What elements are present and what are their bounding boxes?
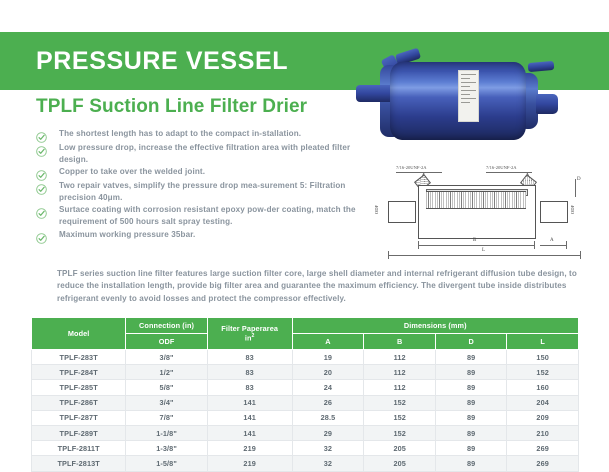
cell-b: 112 xyxy=(364,350,436,365)
list-item: Low pressure drop, increase the effectiv… xyxy=(36,142,356,165)
cell-d: 89 xyxy=(436,456,507,471)
label-line xyxy=(461,74,476,75)
cell-l: 152 xyxy=(507,365,579,380)
cell-odf: 1-1/8" xyxy=(126,425,208,440)
column-header-a: A xyxy=(292,334,364,350)
banner-title: PRESSURE VESSEL xyxy=(0,47,288,76)
label-line xyxy=(461,94,470,95)
dim-line-a xyxy=(540,245,566,246)
column-header-b: B xyxy=(364,334,436,350)
check-circle-icon xyxy=(36,206,47,217)
column-header-model: Model xyxy=(32,318,126,350)
column-header-l: L xyxy=(507,334,579,350)
check-circle-icon xyxy=(36,130,47,141)
cell-model: TPLF-284T xyxy=(32,365,126,380)
list-item: Maximum working pressure 35bar. xyxy=(36,229,356,242)
cell-paper: 83 xyxy=(207,365,292,380)
inlet-connection xyxy=(356,85,392,102)
cell-paper: 141 xyxy=(207,395,292,410)
cell-model: TPLF-289T xyxy=(32,425,126,440)
product-description: TPLF series suction line filter features… xyxy=(57,268,577,305)
label-line xyxy=(461,86,470,87)
dim-tick xyxy=(418,241,419,249)
cell-model: TPLF-283T xyxy=(32,350,126,365)
check-circle-icon xyxy=(36,182,47,193)
label-line xyxy=(461,98,476,99)
cell-odf: 1-3/8" xyxy=(126,441,208,456)
dim-label-l: L xyxy=(482,248,485,253)
cell-paper: 141 xyxy=(207,410,292,425)
dim-tick xyxy=(534,241,535,249)
feature-text: Copper to take over the welded joint. xyxy=(59,166,205,178)
table-row: TPLF-283T 3/8" 83 19 112 89 150 xyxy=(32,350,579,365)
cell-b: 205 xyxy=(364,441,436,456)
cell-a: 19 xyxy=(292,350,364,365)
cell-odf: 3/8" xyxy=(126,350,208,365)
column-header-odf: ODF xyxy=(126,334,208,350)
product-label xyxy=(458,70,479,122)
label-line xyxy=(461,90,476,91)
cell-b: 112 xyxy=(364,365,436,380)
cell-l: 204 xyxy=(507,395,579,410)
cell-b: 112 xyxy=(364,380,436,395)
cell-paper: 83 xyxy=(207,350,292,365)
page-title: TPLF Suction Line Filter Drier xyxy=(36,96,356,118)
cell-a: 32 xyxy=(292,456,364,471)
cell-odf: 3/4" xyxy=(126,395,208,410)
check-circle-icon xyxy=(36,144,47,155)
cell-b: 152 xyxy=(364,410,436,425)
cell-d: 89 xyxy=(436,350,507,365)
product-info-column: TPLF Suction Line Filter Drier The short… xyxy=(36,96,356,243)
pipe-stub-right xyxy=(540,201,568,223)
cell-l: 209 xyxy=(507,410,579,425)
dim-tick xyxy=(566,241,567,249)
dim-tick xyxy=(388,251,389,259)
dim-line-b xyxy=(418,245,534,246)
label-line xyxy=(461,82,476,83)
cell-a: 20 xyxy=(292,365,364,380)
table-row: TPLF-287T 7/8" 141 28.5 152 89 209 xyxy=(32,410,579,425)
cell-model: TPLF-285T xyxy=(32,380,126,395)
cell-model: TPLF-2811T xyxy=(32,441,126,456)
cell-d: 89 xyxy=(436,395,507,410)
cell-model: TPLF-286T xyxy=(32,395,126,410)
product-photo xyxy=(352,40,600,160)
check-circle-icon xyxy=(36,168,47,179)
paper-area-exponent: 2 xyxy=(252,333,255,339)
table-row: TPLF-2811T 1-3/8" 219 32 205 89 269 xyxy=(32,441,579,456)
thread-spec-label-right: 7/16-20UNF-2A xyxy=(486,165,517,170)
dim-line-l xyxy=(388,255,580,256)
feature-text: Low pressure drop, increase the effectiv… xyxy=(59,142,356,165)
paper-area-unit: in xyxy=(245,334,252,343)
label-line xyxy=(461,102,470,103)
table-row: TPLF-286T 3/4" 141 26 152 89 204 xyxy=(32,395,579,410)
cell-b: 152 xyxy=(364,395,436,410)
center-axis-line xyxy=(378,211,583,212)
cell-d: 89 xyxy=(436,425,507,440)
cell-l: 210 xyxy=(507,425,579,440)
feature-text: The shortest length has to adapt to the … xyxy=(59,128,301,140)
dim-tick xyxy=(580,251,581,259)
table-row: TPLF-289T 1-1/8" 141 29 152 89 210 xyxy=(32,425,579,440)
technical-drawing: 7/16-20UNF-2A 7/16-20UNF-2A ODF ODF D B … xyxy=(370,163,598,263)
cell-a: 26 xyxy=(292,395,364,410)
cell-model: TPLF-2813T xyxy=(32,456,126,471)
column-header-dimensions: Dimensions (mm) xyxy=(292,318,578,334)
dim-label-a: A xyxy=(550,238,554,243)
cell-paper: 219 xyxy=(207,441,292,456)
cell-l: 160 xyxy=(507,380,579,395)
odf-label-left: ODF xyxy=(374,205,379,214)
feature-text: Surtace coating with corrosion resistant… xyxy=(59,204,356,227)
cell-a: 29 xyxy=(292,425,364,440)
table-body: TPLF-283T 3/8" 83 19 112 89 150 TPLF-284… xyxy=(32,350,579,472)
cell-a: 28.5 xyxy=(292,410,364,425)
leader-line xyxy=(396,172,442,173)
column-header-paper-area: Filter Paperarea in2 xyxy=(207,318,292,350)
cell-d: 89 xyxy=(436,380,507,395)
cell-odf: 1/2" xyxy=(126,365,208,380)
odf-label-right: ODF xyxy=(570,205,575,214)
cell-l: 150 xyxy=(507,350,579,365)
paper-area-text: Filter Paperarea xyxy=(221,324,278,333)
dim-label-b: B xyxy=(473,238,476,243)
feature-text: Two repair vatves, simplify the pressure… xyxy=(59,180,356,203)
cell-b: 152 xyxy=(364,425,436,440)
feature-list: The shortest length has to adapt to the … xyxy=(36,128,356,242)
column-header-d: D xyxy=(436,334,507,350)
check-circle-icon xyxy=(36,231,47,242)
table-row: TPLF-285T 5/8" 83 24 112 89 160 xyxy=(32,380,579,395)
list-item: Surtace coating with corrosion resistant… xyxy=(36,204,356,227)
thread-spec-label-left: 7/16-20UNF-2A xyxy=(396,165,427,170)
list-item: Two repair vatves, simplify the pressure… xyxy=(36,180,356,203)
cell-d: 89 xyxy=(436,441,507,456)
table-header-row-1: Model Connection (in) Filter Paperarea i… xyxy=(32,318,579,334)
cell-d: 89 xyxy=(436,410,507,425)
cell-odf: 1-5/8" xyxy=(126,456,208,471)
cell-l: 269 xyxy=(507,441,579,456)
cell-odf: 5/8" xyxy=(126,380,208,395)
right-valve-port xyxy=(528,61,555,72)
cell-paper: 83 xyxy=(207,380,292,395)
filter-core-mesh xyxy=(426,191,526,209)
cell-d: 89 xyxy=(436,365,507,380)
list-item: Copper to take over the welded joint. xyxy=(36,166,356,179)
cell-paper: 219 xyxy=(207,456,292,471)
leader-line xyxy=(486,172,532,173)
dim-label-d: D xyxy=(577,177,581,182)
cell-a: 24 xyxy=(292,380,364,395)
outlet-connection xyxy=(536,94,558,114)
cell-odf: 7/8" xyxy=(126,410,208,425)
cell-a: 32 xyxy=(292,441,364,456)
cell-l: 269 xyxy=(507,456,579,471)
cell-model: TPLF-287T xyxy=(32,410,126,425)
table-header: Model Connection (in) Filter Paperarea i… xyxy=(32,318,579,350)
column-header-connection: Connection (in) xyxy=(126,318,208,334)
cell-b: 205 xyxy=(364,456,436,471)
list-item: The shortest length has to adapt to the … xyxy=(36,128,356,141)
pipe-stub-left xyxy=(388,201,416,223)
table-row: TPLF-2813T 1-5/8" 219 32 205 89 269 xyxy=(32,456,579,471)
table-row: TPLF-284T 1/2" 83 20 112 89 152 xyxy=(32,365,579,380)
feature-text: Maximum working pressure 35bar. xyxy=(59,229,195,241)
specifications-table: Model Connection (in) Filter Paperarea i… xyxy=(31,317,579,472)
label-line xyxy=(461,78,470,79)
cell-paper: 141 xyxy=(207,425,292,440)
dim-line-d xyxy=(575,179,576,197)
